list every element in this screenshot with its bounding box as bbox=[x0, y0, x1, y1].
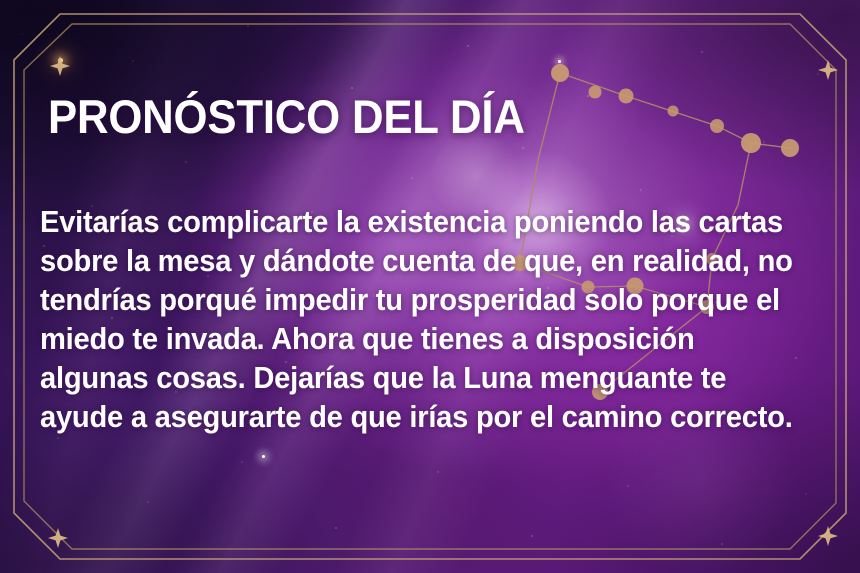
horoscope-body-text: Evitarías complicarte la existencia poni… bbox=[40, 203, 794, 437]
poster-content: PRONÓSTICO DEL DÍA Evitarías complicarte… bbox=[0, 0, 860, 573]
horoscope-poster: PRONÓSTICO DEL DÍA Evitarías complicarte… bbox=[0, 0, 860, 573]
page-title: PRONÓSTICO DEL DÍA bbox=[48, 92, 525, 142]
